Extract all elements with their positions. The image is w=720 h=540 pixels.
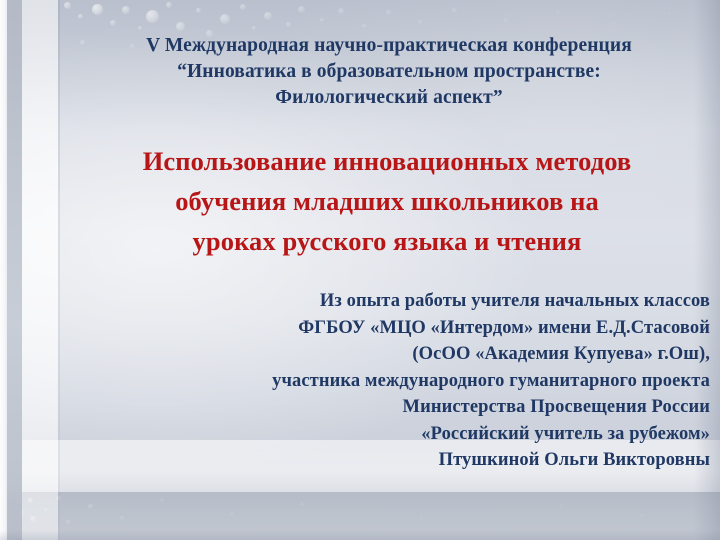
author-credits-line-6: «Российский учитель за рубежом» xyxy=(40,421,710,448)
slide-title-line-2: обучения младших школьников на xyxy=(62,181,712,221)
author-credits-line-7: Птушкиной Ольги Викторовны xyxy=(40,447,710,474)
presentation-slide: V Международная научно-практическая конф… xyxy=(0,0,720,540)
author-credits-line-2: ФГБОУ «МЦО «Интердом» имени Е.Д.Стасовой xyxy=(40,315,710,342)
author-credits-line-4: участника международного гуманитарного п… xyxy=(40,368,710,395)
left-edge-gray-band xyxy=(7,0,22,540)
slide-title-line-3: уроках русского языка и чтения xyxy=(62,221,712,261)
slide-title: Использование инновационных методов обуч… xyxy=(62,141,712,261)
conference-header: V Международная научно-практическая конф… xyxy=(62,33,716,111)
slide-title-line-1: Использование инновационных методов xyxy=(62,141,712,181)
author-credits-line-3: (ОсОО «Академия Купуева» г.Ош), xyxy=(40,341,710,368)
conference-header-line-1: V Международная научно-практическая конф… xyxy=(62,33,716,59)
bottom-edge-vignette xyxy=(0,530,720,540)
author-credits-line-5: Министерства Просвещения России xyxy=(40,394,710,421)
conference-header-line-2: “Инноватика в образовательном пространст… xyxy=(62,59,716,85)
conference-header-line-3: Филологический аспект” xyxy=(62,85,716,111)
left-edge-white-band xyxy=(0,0,7,540)
author-credits: Из опыта работы учителя начальных классо… xyxy=(40,288,710,474)
author-credits-line-1: Из опыта работы учителя начальных классо… xyxy=(40,288,710,315)
